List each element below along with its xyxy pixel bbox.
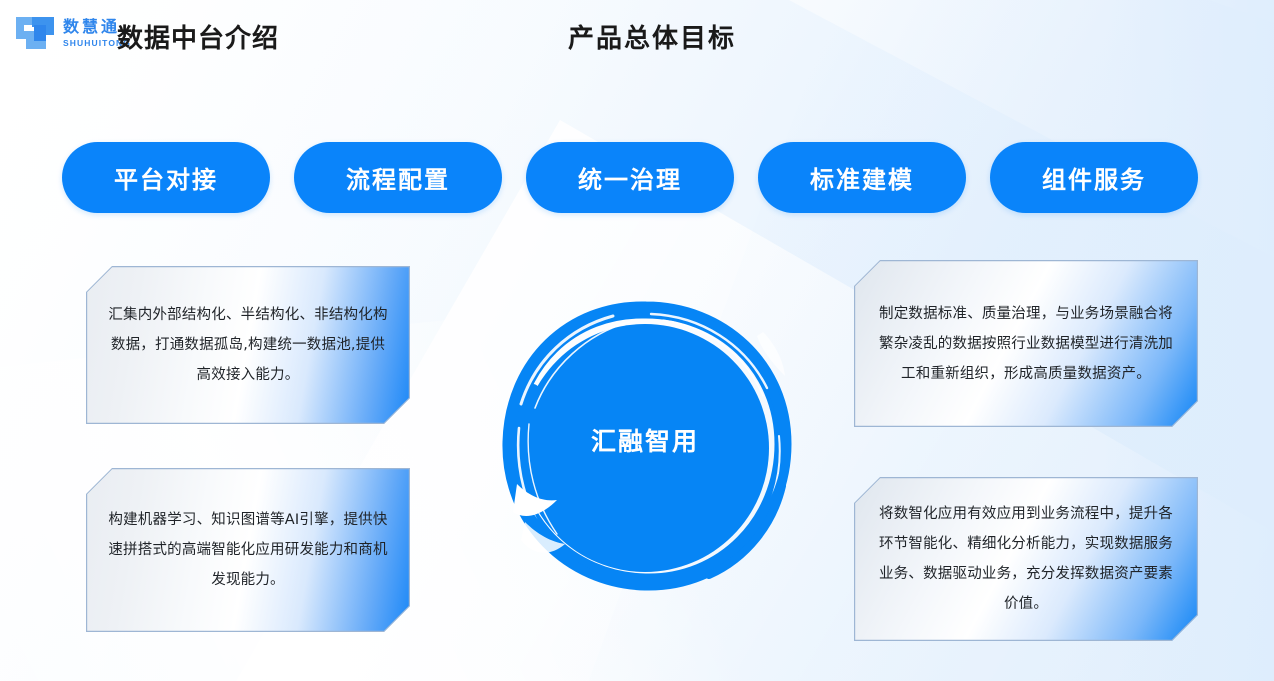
pill-process-config[interactable]: 流程配置 [294,142,502,213]
pill-platform-integration[interactable]: 平台对接 [62,142,270,213]
info-card-top-right: 制定数据标准、质量治理，与业务场景融合将繁杂凌乱的数据按照行业数据模型进行清洗加… [854,260,1198,427]
info-card-bottom-right: 将数智化应用有效应用到业务流程中，提升各环节智能化、精细化分析能力，实现数据服务… [854,477,1198,641]
info-card-bottom-right-text: 将数智化应用有效应用到业务流程中，提升各环节智能化、精细化分析能力，实现数据服务… [876,499,1176,619]
slide-header: 数慧通 SHUHUITONG 数据中台介绍 产品总体目标 [0,0,1274,72]
capability-pill-row: 平台对接 流程配置 统一治理 标准建模 组件服务 [62,142,1198,213]
center-brush-circle: 汇融智用 [495,296,795,596]
slide-title: 产品总体目标 [568,18,736,55]
center-circle-label: 汇融智用 [495,422,795,458]
brand-logo: 数慧通 SHUHUITONG [14,13,131,53]
info-card-top-left: 汇集内外部结构化、半结构化、非结构化构数据，打通数据孤岛,构建统一数据池,提供高… [86,266,410,424]
slide-canvas: 数慧通 SHUHUITONG 数据中台介绍 产品总体目标 平台对接 流程配置 统… [0,0,1274,681]
info-card-bottom-left-text: 构建机器学习、知识图谱等AI引擎，提供快速拼搭式的高端智能化应用研发能力和商机发… [108,505,388,595]
info-card-bottom-left: 构建机器学习、知识图谱等AI引擎，提供快速拼搭式的高端智能化应用研发能力和商机发… [86,468,410,632]
info-card-top-right-text: 制定数据标准、质量治理，与业务场景融合将繁杂凌乱的数据按照行业数据模型进行清洗加… [876,299,1176,389]
pill-standard-modeling[interactable]: 标准建模 [758,142,966,213]
info-card-top-left-text: 汇集内外部结构化、半结构化、非结构化构数据，打通数据孤岛,构建统一数据池,提供高… [108,300,388,390]
deck-title: 数据中台介绍 [117,18,279,55]
shuhuitong-logo-mark-icon [14,13,56,53]
pill-component-service[interactable]: 组件服务 [990,142,1198,213]
pill-unified-governance[interactable]: 统一治理 [526,142,734,213]
